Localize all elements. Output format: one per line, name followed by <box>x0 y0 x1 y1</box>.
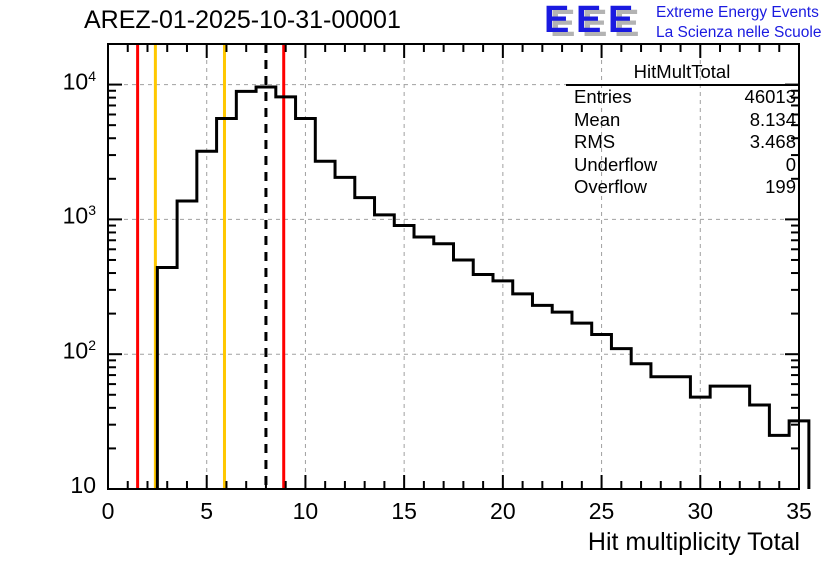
x-tick-label-5: 5 <box>177 498 237 525</box>
stats-row: Underflow0 <box>566 154 798 177</box>
x-axis-title: Hit multiplicity Total <box>588 528 800 557</box>
x-tick-label-35: 35 <box>769 498 829 525</box>
stats-box: HitMultTotal Entries46013Mean8.134RMS3.4… <box>566 61 798 199</box>
stats-row: Mean8.134 <box>566 109 798 132</box>
stats-row-value: 3.468 <box>750 131 796 154</box>
stats-row-key: Mean <box>574 109 620 132</box>
stats-row-key: Overflow <box>574 176 647 199</box>
y-tick-label-10000: 104 <box>4 68 96 96</box>
y-tick-label-10: 10 <box>4 472 96 499</box>
stats-row-value: 46013 <box>745 86 796 109</box>
x-tick-label-25: 25 <box>572 498 632 525</box>
stats-row-value: 8.134 <box>750 109 796 132</box>
y-tick-label-1000: 103 <box>4 202 96 230</box>
stats-row-value: 0 <box>786 154 796 177</box>
y-tick-label-100: 102 <box>4 337 96 365</box>
stats-box-rows: Entries46013Mean8.134RMS3.468Underflow0O… <box>566 86 798 199</box>
x-tick-label-0: 0 <box>78 498 138 525</box>
stats-row-value: 199 <box>765 176 796 199</box>
stats-row-key: RMS <box>574 131 615 154</box>
stats-row: Overflow199 <box>566 176 798 199</box>
stats-row-key: Entries <box>574 86 632 109</box>
x-tick-label-30: 30 <box>670 498 730 525</box>
stats-row-key: Underflow <box>574 154 657 177</box>
stats-box-title: HitMultTotal <box>566 61 798 86</box>
x-tick-label-15: 15 <box>374 498 434 525</box>
x-tick-label-10: 10 <box>275 498 335 525</box>
x-tick-label-20: 20 <box>473 498 533 525</box>
stats-row: RMS3.468 <box>566 131 798 154</box>
root-canvas: AREZ-01-2025-10-31-00001 E E E E E E Ext… <box>0 0 836 572</box>
stats-row: Entries46013 <box>566 86 798 109</box>
